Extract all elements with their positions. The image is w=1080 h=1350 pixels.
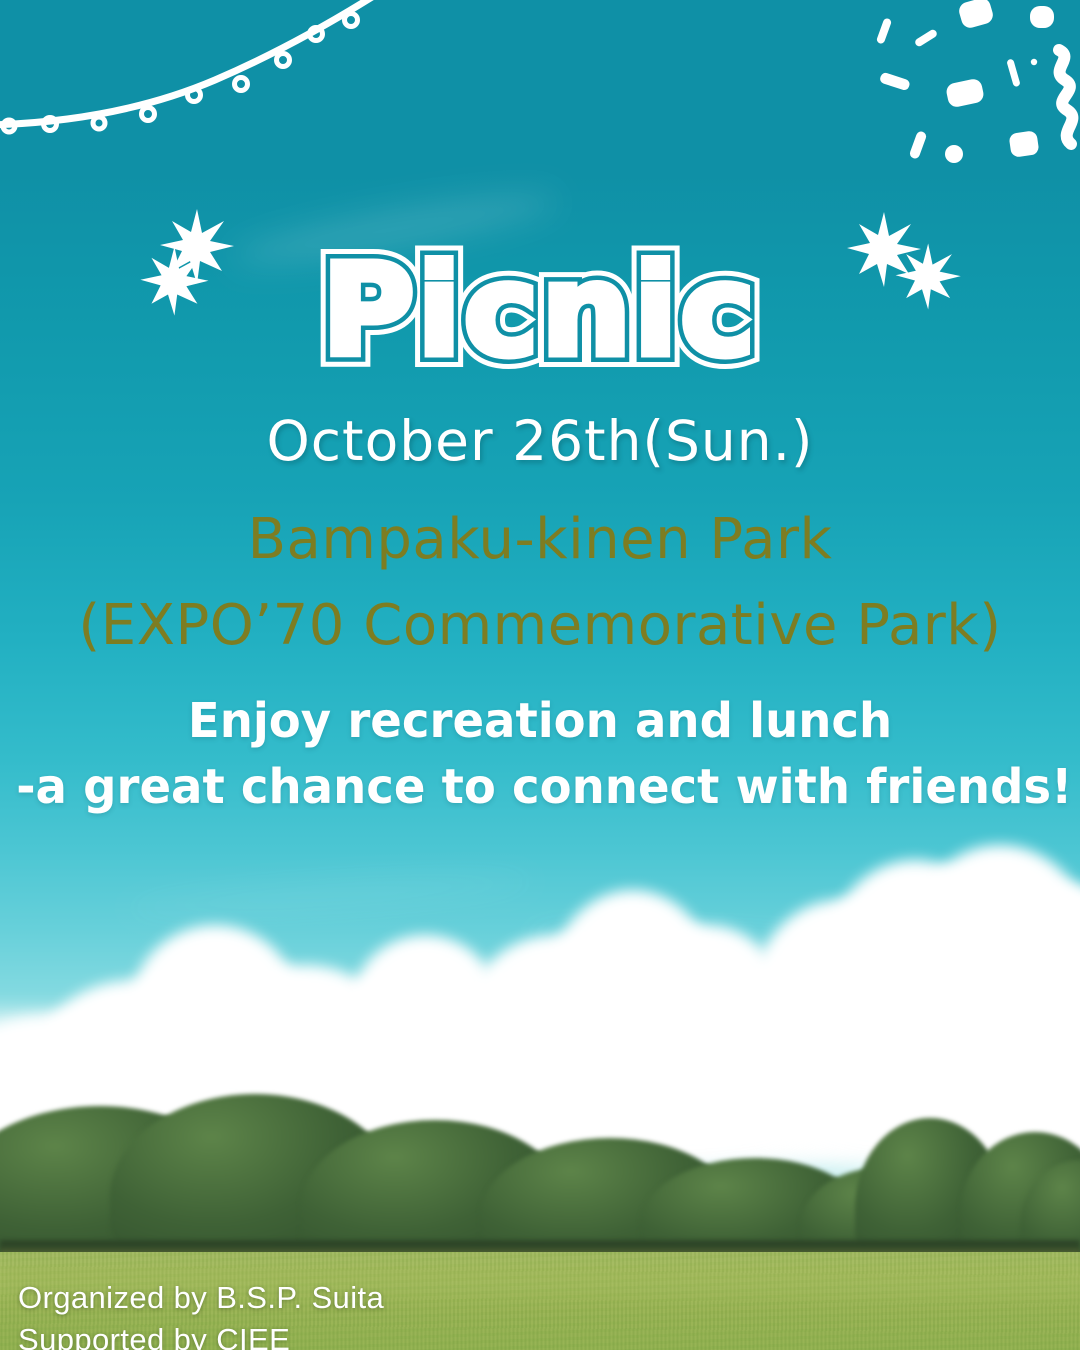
light-bulb-icon [142, 108, 155, 121]
tagline-line-2: -a great chance to connect with friends! [16, 754, 1064, 820]
event-venue: Bampaku-kinen Park (EXPO’70 Commemorativ… [0, 497, 1080, 669]
tree-line [0, 1098, 1080, 1266]
credits-block: Organized by B.S.P. Suita Supported by C… [18, 1277, 384, 1350]
event-tagline: Enjoy recreation and lunch -a great chan… [16, 688, 1064, 820]
event-date: October 26th(Sun.) [0, 404, 1080, 478]
light-bulb-icon [235, 78, 248, 91]
tagline-line-1: Enjoy recreation and lunch [16, 688, 1064, 754]
ribbon-streamer [1045, 48, 1080, 158]
picnic-event-poster: Picnic Picnic Picnic October 26th(Sun.) … [0, 0, 1080, 1350]
organizer-credit: Organized by B.S.P. Suita [18, 1277, 384, 1319]
page-title: Picnic Picnic Picnic [0, 236, 1080, 396]
title-fill-layer: Picnic [0, 236, 1080, 386]
light-bulb-icon [93, 117, 105, 129]
light-bulb-icon [277, 54, 290, 67]
confetti-piece [876, 0, 1054, 163]
light-bulb-icon [188, 89, 201, 102]
light-bulb-icon [345, 14, 358, 27]
venue-line-2: (EXPO’70 Commemorative Park) [0, 583, 1080, 669]
supporter-credit: Supported by CIEE [18, 1319, 384, 1350]
string-lights-garland [0, 0, 410, 154]
venue-line-1: Bampaku-kinen Park [0, 497, 1080, 583]
